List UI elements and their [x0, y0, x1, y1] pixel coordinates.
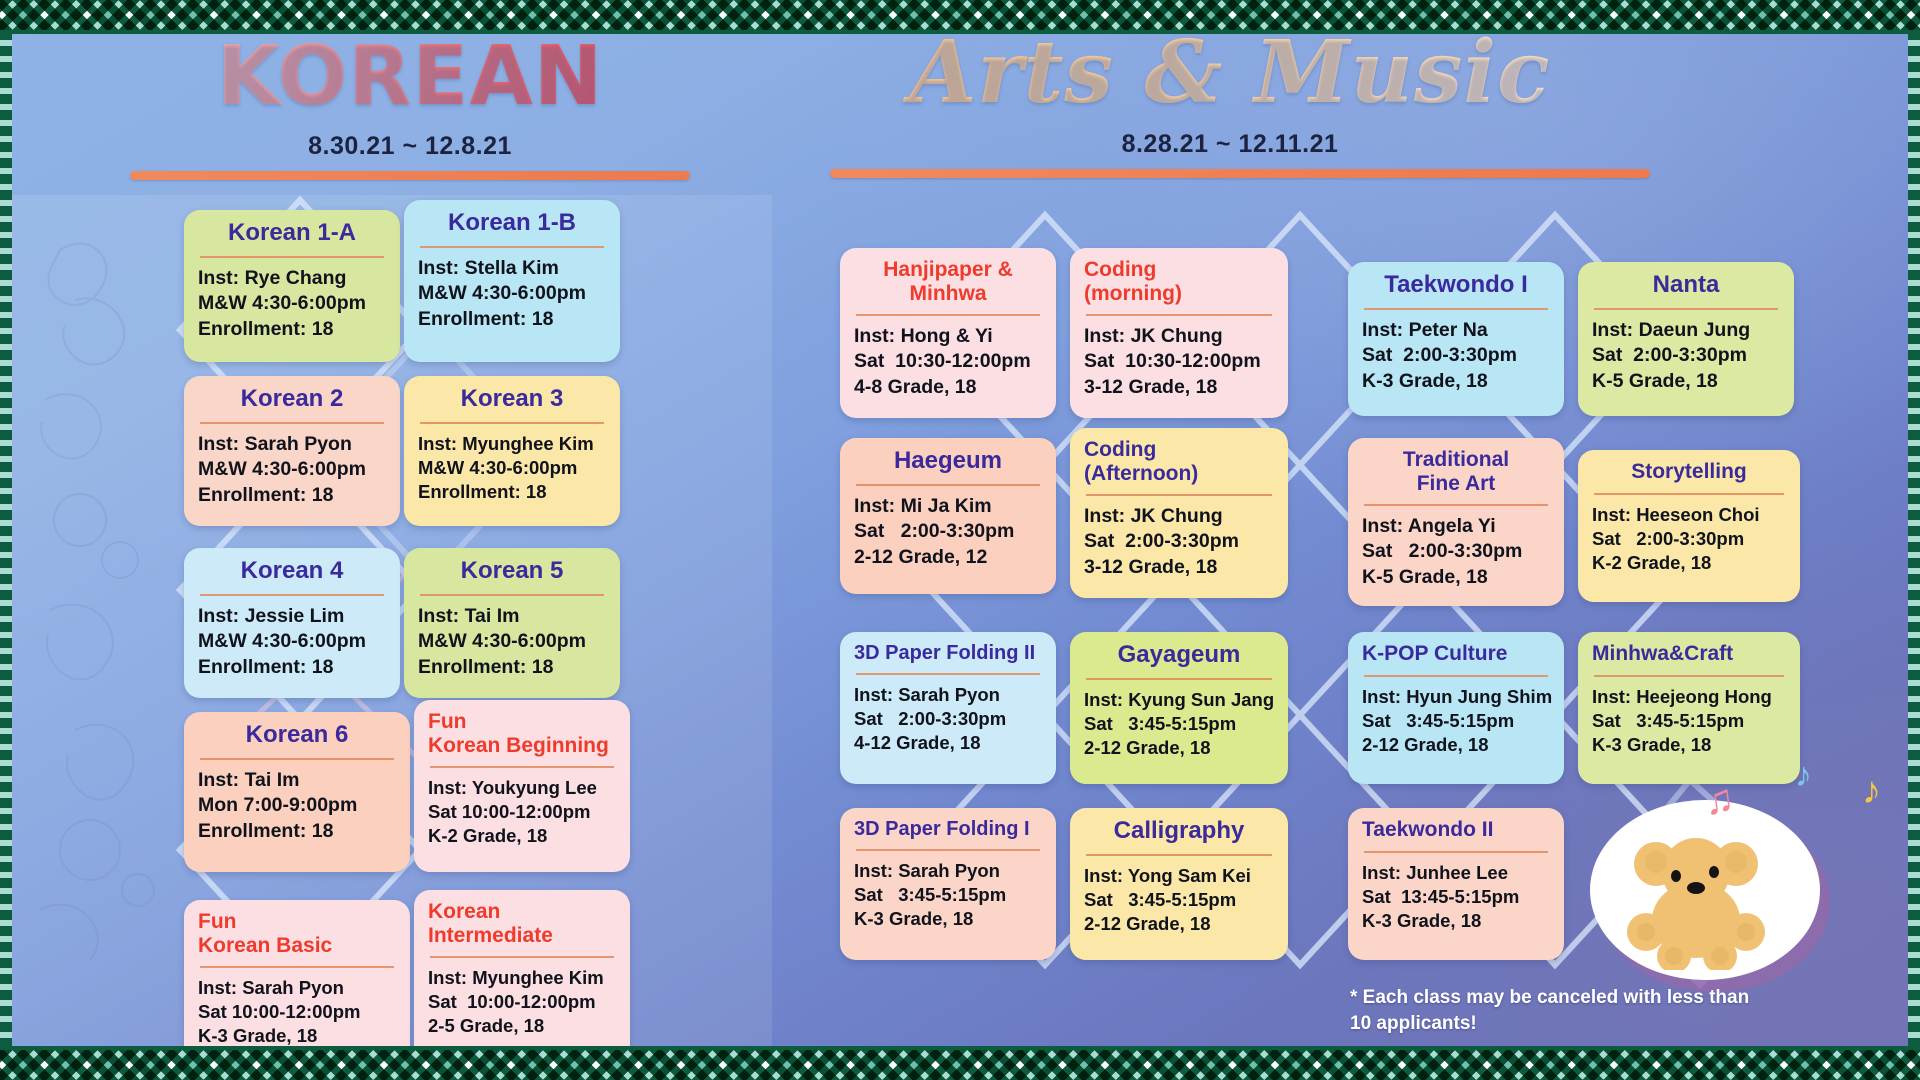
card-schedule: Sat 2:00-3:30pm: [854, 519, 1042, 544]
card-instructor: Inst: Jessie Lim: [198, 604, 386, 629]
card-instructor: Inst: Heejeong Hong: [1592, 685, 1786, 709]
card-instructor: Inst: Stella Kim: [418, 256, 606, 281]
card-instructor: Inst: Sarah Pyon: [854, 859, 1042, 883]
korean-section-header: KOREAN 8.30.21 ~ 12.8.21: [120, 36, 700, 180]
card-schedule: M&W 4:30-6:00pm: [418, 281, 606, 306]
card-schedule: Sat 2:00-3:30pm: [1084, 529, 1274, 554]
class-card-korean-3[interactable]: Korean 3 Inst: Myunghee Kim M&W 4:30-6:0…: [404, 376, 620, 526]
card-title: Korean 5: [418, 558, 606, 588]
card-divider: [856, 484, 1040, 486]
card-title: Fun Korean Basic: [198, 910, 396, 960]
card-schedule: Sat 10:00-12:00pm: [428, 990, 616, 1014]
card-divider: [1086, 494, 1272, 496]
card-enrollment: K-5 Grade, 18: [1362, 565, 1550, 590]
card-instructor: Inst: JK Chung: [1084, 324, 1274, 349]
card-instructor: Inst: Heeseon Choi: [1592, 503, 1786, 527]
card-divider: [1086, 678, 1272, 680]
class-card-korean-1b[interactable]: Korean 1-B Inst: Stella Kim M&W 4:30-6:0…: [404, 200, 620, 362]
card-title: Korean 2: [198, 386, 386, 416]
card-enrollment: Enrollment: 18: [198, 317, 386, 342]
class-card-hanjipaper-minhwa[interactable]: Hanjipaper & Minhwa Inst: Hong & Yi Sat …: [840, 248, 1056, 418]
card-enrollment: 2-12 Grade, 18: [1362, 733, 1550, 757]
card-enrollment: K-2 Grade, 18: [1592, 551, 1786, 575]
right-border-rail: [1908, 0, 1920, 1080]
card-enrollment: Enrollment: 18: [418, 655, 606, 680]
card-title: 3D Paper Folding II: [854, 642, 1042, 667]
card-enrollment: K-2 Grade, 18: [428, 824, 616, 848]
class-card-3d-paper-folding-2[interactable]: 3D Paper Folding II Inst: Sarah Pyon Sat…: [840, 632, 1056, 784]
card-instructor: Inst: Junhee Lee: [1362, 861, 1550, 885]
class-card-korean-1a[interactable]: Korean 1-A Inst: Rye Chang M&W 4:30-6:00…: [184, 210, 400, 362]
card-title: Coding (morning): [1084, 258, 1274, 308]
card-instructor: Inst: Mi Ja Kim: [854, 494, 1042, 519]
class-card-gayageum[interactable]: Gayageum Inst: Kyung Sun Jang Sat 3:45-5…: [1070, 632, 1288, 784]
arts-section-header: Arts & Music 8.28.21 ~ 12.11.21: [870, 30, 1590, 178]
card-enrollment: K-3 Grade, 18: [1592, 733, 1786, 757]
card-schedule: Sat 2:00-3:30pm: [854, 707, 1042, 731]
card-title: Coding (Afternoon): [1084, 438, 1274, 488]
card-title: Taekwondo I: [1362, 272, 1550, 302]
card-divider: [200, 422, 384, 424]
card-enrollment: Enrollment: 18: [418, 307, 606, 332]
card-enrollment: Enrollment: 18: [198, 819, 396, 844]
card-title: Korean 4: [198, 558, 386, 588]
card-instructor: Inst: Youkyung Lee: [428, 776, 616, 800]
card-title: Haegeum: [854, 448, 1042, 478]
class-card-coding-afternoon[interactable]: Coding (Afternoon) Inst: JK Chung Sat 2:…: [1070, 428, 1288, 598]
card-enrollment: Enrollment: 18: [198, 483, 386, 508]
top-border-band: [0, 0, 1920, 30]
card-title: Gayageum: [1084, 642, 1274, 672]
card-divider: [1364, 675, 1548, 677]
card-schedule: Sat 2:00-3:30pm: [1362, 343, 1550, 368]
card-divider: [420, 246, 604, 248]
card-enrollment: K-3 Grade, 18: [854, 907, 1042, 931]
card-enrollment: 4-8 Grade, 18: [854, 375, 1042, 400]
card-instructor: Inst: Rye Chang: [198, 266, 386, 291]
card-title: Traditional Fine Art: [1362, 448, 1550, 498]
card-schedule: Sat 3:45-5:15pm: [854, 883, 1042, 907]
card-title: Korean 6: [198, 722, 396, 752]
card-divider: [200, 256, 384, 258]
class-card-korean-2[interactable]: Korean 2 Inst: Sarah Pyon M&W 4:30-6:00p…: [184, 376, 400, 526]
card-enrollment: 2-12 Grade, 18: [1084, 736, 1274, 760]
card-title: Hanjipaper & Minhwa: [854, 258, 1042, 308]
card-schedule: M&W 4:30-6:00pm: [198, 291, 386, 316]
cancellation-footnote: * Each class may be canceled with less t…: [1350, 985, 1780, 1036]
card-divider: [856, 673, 1040, 675]
music-note-yellow-icon: ♪: [1862, 772, 1881, 810]
left-border-rail: [0, 0, 12, 1080]
card-enrollment: Enrollment: 18: [418, 480, 606, 504]
card-schedule: Sat 3:45-5:15pm: [1084, 888, 1274, 912]
class-card-taekwondo-2[interactable]: Taekwondo II Inst: Junhee Lee Sat 13:45-…: [1348, 808, 1564, 960]
card-instructor: Inst: Tai Im: [418, 604, 606, 629]
card-divider: [200, 966, 394, 968]
bottom-border-edge: [0, 1046, 1920, 1050]
class-card-korean-intermediate[interactable]: Korean Intermediate Inst: Myunghee Kim S…: [414, 890, 630, 1062]
music-note-pink-icon: ♫: [1701, 778, 1736, 822]
card-schedule: M&W 4:30-6:00pm: [418, 629, 606, 654]
korean-dates: 8.30.21 ~ 12.8.21: [120, 132, 700, 161]
arts-title: Arts & Music: [870, 30, 1590, 116]
card-schedule: Sat 10:30-12:00pm: [1084, 349, 1274, 374]
card-enrollment: 4-12 Grade, 18: [854, 731, 1042, 755]
card-title: 3D Paper Folding I: [854, 818, 1042, 843]
card-enrollment: 2-12 Grade, 12: [854, 545, 1042, 570]
card-title: Nanta: [1592, 272, 1780, 302]
card-divider: [420, 594, 604, 596]
card-instructor: Inst: Sarah Pyon: [198, 976, 396, 1000]
card-enrollment: 2-5 Grade, 18: [428, 1014, 616, 1038]
card-title: K-POP Culture: [1362, 642, 1550, 669]
card-instructor: Inst: Hyun Jung Shim: [1362, 685, 1550, 709]
card-enrollment: Enrollment: 18: [198, 655, 386, 680]
arts-rule: [830, 169, 1650, 178]
bottom-border-band: [0, 1050, 1920, 1080]
class-card-korean-4[interactable]: Korean 4 Inst: Jessie Lim M&W 4:30-6:00p…: [184, 548, 400, 698]
class-card-traditional-fine-art[interactable]: Traditional Fine Art Inst: Angela Yi Sat…: [1348, 438, 1564, 606]
card-schedule: Sat 2:00-3:30pm: [1362, 539, 1550, 564]
class-card-fun-korean-beginning[interactable]: Fun Korean Beginning Inst: Youkyung Lee …: [414, 700, 630, 872]
bear-mascot-icon: [1610, 820, 1800, 970]
card-enrollment: 3-12 Grade, 18: [1084, 555, 1274, 580]
card-title: Calligraphy: [1084, 818, 1274, 848]
card-instructor: Inst: Kyung Sun Jang: [1084, 688, 1274, 712]
card-schedule: M&W 4:30-6:00pm: [198, 629, 386, 654]
card-divider: [1364, 504, 1548, 506]
card-schedule: M&W 4:30-6:00pm: [418, 456, 606, 480]
card-title: Korean 3: [418, 386, 606, 416]
card-instructor: Inst: Peter Na: [1362, 318, 1550, 343]
card-enrollment: K-3 Grade, 18: [1362, 369, 1550, 394]
card-instructor: Inst: Hong & Yi: [854, 324, 1042, 349]
class-card-haegeum[interactable]: Haegeum Inst: Mi Ja Kim Sat 2:00-3:30pm …: [840, 438, 1056, 594]
card-schedule: Sat 10:30-12:00pm: [854, 349, 1042, 374]
korean-title: KOREAN: [120, 36, 700, 118]
card-instructor: Inst: Myunghee Kim: [418, 432, 606, 456]
schedule-poster: KOREAN 8.30.21 ~ 12.8.21 Arts & Music 8.…: [0, 0, 1920, 1080]
card-instructor: Inst: Tai Im: [198, 768, 396, 793]
card-instructor: Inst: Angela Yi: [1362, 514, 1550, 539]
class-card-kpop-culture[interactable]: K-POP Culture Inst: Hyun Jung Shim Sat 3…: [1348, 632, 1564, 784]
card-divider: [1594, 493, 1784, 495]
card-instructor: Inst: Daeun Jung: [1592, 318, 1780, 343]
class-card-calligraphy[interactable]: Calligraphy Inst: Yong Sam Kei Sat 3:45-…: [1070, 808, 1288, 960]
card-divider: [1594, 308, 1778, 310]
card-title: Korean 1-B: [418, 210, 606, 240]
card-divider: [1364, 851, 1548, 853]
card-schedule: Sat 10:00-12:00pm: [198, 1000, 396, 1024]
card-schedule: M&W 4:30-6:00pm: [198, 457, 386, 482]
card-instructor: Inst: Myunghee Kim: [428, 966, 616, 990]
music-note-blue-icon: ♪: [1795, 758, 1812, 792]
card-divider: [856, 314, 1040, 316]
card-divider: [200, 594, 384, 596]
card-schedule: Sat 2:00-3:30pm: [1592, 527, 1786, 551]
korean-rule: [130, 171, 690, 180]
card-divider: [420, 422, 604, 424]
card-enrollment: K-3 Grade, 18: [1362, 909, 1550, 933]
class-card-minhwa-craft[interactable]: Minhwa&Craft Inst: Heejeong Hong Sat 3:4…: [1578, 632, 1800, 784]
card-instructor: Inst: Yong Sam Kei: [1084, 864, 1274, 888]
card-schedule: Sat 10:00-12:00pm: [428, 800, 616, 824]
card-divider: [1086, 854, 1272, 856]
card-schedule: Sat 3:45-5:15pm: [1592, 709, 1786, 733]
card-title: Taekwondo II: [1362, 818, 1550, 845]
class-card-coding-morning[interactable]: Coding (morning) Inst: JK Chung Sat 10:3…: [1070, 248, 1288, 418]
class-card-taekwondo-1[interactable]: Taekwondo I Inst: Peter Na Sat 2:00-3:30…: [1348, 262, 1564, 416]
card-schedule: Sat 3:45-5:15pm: [1084, 712, 1274, 736]
card-divider: [1086, 314, 1272, 316]
top-border-edge: [0, 30, 1920, 34]
card-title: Storytelling: [1592, 460, 1786, 487]
card-title: Minhwa&Craft: [1592, 642, 1786, 669]
class-card-korean-5[interactable]: Korean 5 Inst: Tai Im M&W 4:30-6:00pm En…: [404, 548, 620, 698]
card-divider: [1594, 675, 1784, 677]
card-enrollment: 3-12 Grade, 18: [1084, 375, 1274, 400]
card-enrollment: 2-12 Grade, 18: [1084, 912, 1274, 936]
card-divider: [430, 766, 614, 768]
card-enrollment: K-3 Grade, 18: [198, 1024, 396, 1048]
class-card-fun-korean-basic[interactable]: Fun Korean Basic Inst: Sarah Pyon Sat 10…: [184, 900, 410, 1062]
card-instructor: Inst: Sarah Pyon: [198, 432, 386, 457]
class-card-3d-paper-folding-1[interactable]: 3D Paper Folding I Inst: Sarah Pyon Sat …: [840, 808, 1056, 960]
arts-dates: 8.28.21 ~ 12.11.21: [870, 130, 1590, 159]
card-instructor: Inst: Sarah Pyon: [854, 683, 1042, 707]
card-schedule: Sat 13:45-5:15pm: [1362, 885, 1550, 909]
card-divider: [200, 758, 394, 760]
class-card-storytelling[interactable]: Storytelling Inst: Heeseon Choi Sat 2:00…: [1578, 450, 1800, 602]
card-schedule: Sat 3:45-5:15pm: [1362, 709, 1550, 733]
card-schedule: Sat 2:00-3:30pm: [1592, 343, 1780, 368]
card-schedule: Mon 7:00-9:00pm: [198, 793, 396, 818]
class-card-korean-6[interactable]: Korean 6 Inst: Tai Im Mon 7:00-9:00pm En…: [184, 712, 410, 872]
card-instructor: Inst: JK Chung: [1084, 504, 1274, 529]
card-divider: [430, 956, 614, 958]
card-title: Korean Intermediate: [428, 900, 616, 950]
card-title: Korean 1-A: [198, 220, 386, 250]
card-enrollment: K-5 Grade, 18: [1592, 369, 1780, 394]
class-card-nanta[interactable]: Nanta Inst: Daeun Jung Sat 2:00-3:30pm K…: [1578, 262, 1794, 416]
card-divider: [856, 849, 1040, 851]
card-title: Fun Korean Beginning: [428, 710, 616, 760]
card-divider: [1364, 308, 1548, 310]
